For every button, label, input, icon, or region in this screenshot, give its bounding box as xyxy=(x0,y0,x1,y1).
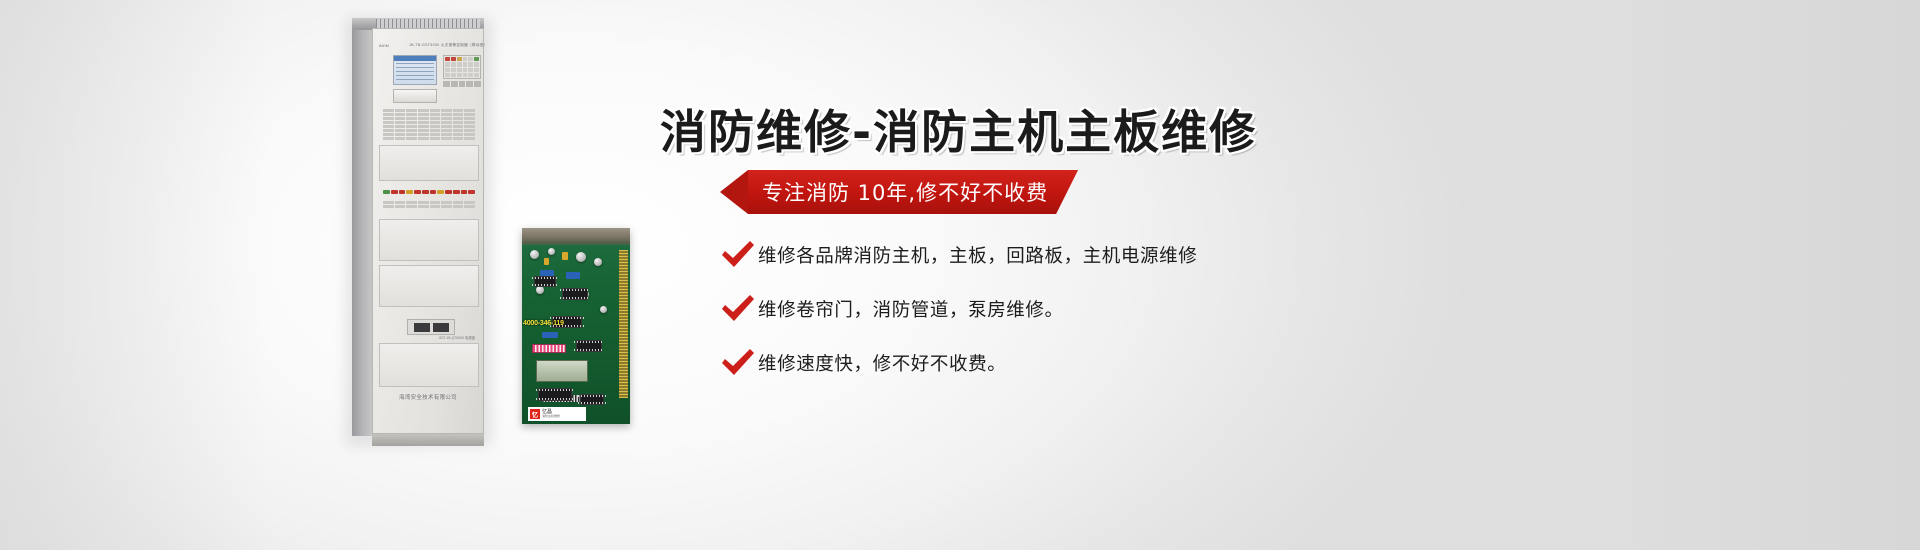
ribbon-arrow-tail xyxy=(720,170,748,214)
cabinet-blank-panel-4 xyxy=(379,343,479,387)
cabinet-printer-slot xyxy=(393,89,437,103)
ribbon-body: 专注消防 10年,修不好不收费 xyxy=(748,170,1078,214)
cabinet-side-panel xyxy=(352,24,372,436)
pcb-phone-overlay: 4000-346-119 xyxy=(523,320,564,327)
cabinet-voltage-meter xyxy=(407,319,455,335)
fire-alarm-cabinet-image: AVIN JB-TB-GST5000 火灾报警控制器（联动型） xyxy=(352,14,484,446)
lcd-text-rows xyxy=(396,63,434,82)
cabinet-model-label: JB-TB-GST5000 火灾报警控制器（联动型） xyxy=(409,43,487,48)
check-icon xyxy=(720,348,758,378)
pcb-edge-connector xyxy=(619,250,628,398)
cabinet-power-label: GST-JB-QT5000 电源盘 xyxy=(439,335,475,340)
list-item: 维修卷帘门，消防管道，泵房维修。 xyxy=(720,294,1620,324)
cabinet-terminal-grid-2 xyxy=(383,201,475,208)
check-icon xyxy=(720,240,758,270)
cabinet-indicator-lamp-row xyxy=(383,187,475,197)
logo-mark-icon: 忆 xyxy=(530,409,540,419)
check-icon xyxy=(720,294,758,324)
cabinet-lcd-screen xyxy=(393,55,437,85)
list-item-label: 维修卷帘门，消防管道，泵房维修。 xyxy=(758,296,1064,322)
cabinet-blank-panel-1 xyxy=(379,145,479,181)
cabinet-blank-panel-2 xyxy=(379,219,479,261)
list-item-label: 维修各品牌消防主机，主板，回路板，主机电源维修 xyxy=(758,242,1197,268)
service-list: 维修各品牌消防主机，主板，回路板，主机电源维修 维修卷帘门，消防管道，泵房维修。… xyxy=(720,240,1620,402)
cabinet-base xyxy=(372,434,484,446)
pcb-board-image: 4000-346-119 忆 亿昌 消防主机维修 xyxy=(522,228,630,424)
pcb-dip-switch xyxy=(532,344,566,353)
cabinet-blank-panel-3 xyxy=(379,265,479,307)
list-item-label: 维修速度快，修不好不收费。 xyxy=(758,350,1006,376)
cabinet-company-label: 海湾安全技术有限公司 xyxy=(373,393,483,401)
logo-subtitle: 消防主机维修 xyxy=(542,415,560,418)
cabinet-button-row xyxy=(443,81,481,87)
cabinet-front-face: AVIN JB-TB-GST5000 火灾报警控制器（联动型） xyxy=(372,28,484,434)
cabinet-brand-label: AVIN xyxy=(379,43,389,48)
pcb-watermark-logo: 忆 亿昌 消防主机维修 xyxy=(528,407,586,421)
logo-text: 亿昌 消防主机维修 xyxy=(542,410,560,418)
tagline-ribbon: 专注消防 10年,修不好不收费 xyxy=(720,170,1078,214)
pcb-photo-background xyxy=(522,228,630,244)
cabinet-vent-grille xyxy=(376,19,480,28)
promo-banner: AVIN JB-TB-GST5000 火灾报警控制器（联动型） xyxy=(0,0,1920,550)
ribbon-label: 专注消防 10年,修不好不收费 xyxy=(762,177,1048,207)
banner-content: 消防维修-消防主机主板维修 专注消防 10年,修不好不收费 维修各品牌消防主机，… xyxy=(660,0,1640,550)
list-item: 维修速度快，修不好不收费。 xyxy=(720,348,1620,378)
lcd-title-bar xyxy=(394,56,436,61)
pcb-module xyxy=(536,360,588,382)
list-item: 维修各品牌消防主机，主板，回路板，主机电源维修 xyxy=(720,240,1620,270)
cabinet-keypad xyxy=(443,55,481,79)
cabinet-terminal-grid-1 xyxy=(383,109,475,140)
page-title: 消防维修-消防主机主板维修 xyxy=(660,96,1640,162)
